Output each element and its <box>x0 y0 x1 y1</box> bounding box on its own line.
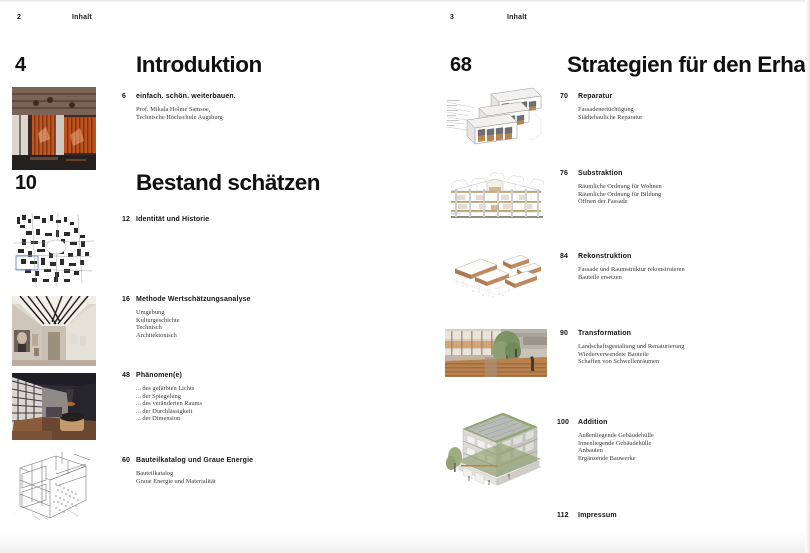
running-head-label-right: Inhalt <box>507 14 527 21</box>
toc-subitem: Räumliche Ordnung für Wohnen <box>578 183 662 191</box>
toc-entry-number: 48 <box>122 372 130 379</box>
toc-entry-subitems: Außenliegende Gebäudehülle Innenliegende… <box>578 432 654 462</box>
toc-entry-number: 12 <box>122 216 130 223</box>
toc-subitem: Ergänzende Bauwerke <box>578 455 654 463</box>
toc-subitem: Technisch <box>136 324 180 332</box>
toc-entry-number: 60 <box>122 457 130 464</box>
thumbnail-courtyard-tree-photo <box>445 329 547 377</box>
toc-subitem: Umgebung <box>136 309 180 317</box>
toc-subitem: Prof. Mikala Holme Samsoe, <box>136 106 223 114</box>
chapter-number-bestand-schaetzen: 10 <box>15 172 36 195</box>
toc-subitem: Landschaftsgestaltung und Renaturierung <box>578 343 684 351</box>
toc-subitem: Technische Hochschule Augsburg <box>136 114 223 122</box>
toc-entry-subitems: Räumliche Ordnung für Wohnen Räumliche O… <box>578 183 662 206</box>
toc-entry-number: 6 <box>122 93 126 100</box>
toc-entry-subitems: Umgebung Kulturgeschichte Technisch Arch… <box>136 309 180 339</box>
toc-entry-title: Substraktion <box>578 170 623 177</box>
thumbnail-corridor-herringbone-ceiling-photo <box>12 296 96 366</box>
toc-entry-subitems: Prof. Mikala Holme Samsoe, Technische Ho… <box>136 106 223 121</box>
thumbnail-dark-wood-interior-photo <box>12 373 96 440</box>
toc-subitem: Öffnen der Fassade <box>578 198 662 206</box>
toc-entry-number: 90 <box>560 330 568 337</box>
svg-text:.....: ..... <box>14 513 17 515</box>
toc-subitem: Schaffen von Schwellenräumen <box>578 358 684 366</box>
thumbnail-facade-exploded-axonometric <box>445 86 547 146</box>
toc-subitem: Anbauten <box>578 447 654 455</box>
chapter-title-bestand-schaetzen: Bestand schätzen <box>136 170 320 196</box>
toc-subitem: Wiederverwendete Bauteile <box>578 351 684 359</box>
svg-text:.....: ..... <box>68 513 71 515</box>
chapter-title-strategien: Strategien für den Erhalt <box>567 52 810 78</box>
chapter-number-introduktion: 4 <box>15 54 26 77</box>
toc-entry-title: einfach. schön. weiterbauen. <box>136 93 236 100</box>
toc-subitem: Architektonisch <box>136 332 180 340</box>
toc-subitem: Fassadenertüchtigung <box>578 106 642 114</box>
toc-entry-title: Identität und Historie <box>136 216 209 223</box>
thumbnail-interior-orange-curtains-photo <box>12 87 96 170</box>
thumbnail-urban-figure-ground-map <box>12 211 96 289</box>
toc-entry-title: Transformation <box>578 330 631 337</box>
chapter-number-strategien: 68 <box>450 54 471 77</box>
toc-subitem: Städtebauliche Reparatur <box>578 114 642 122</box>
book-spread: 2 Inhalt 4 Introduktion 6 einfach. schön… <box>0 0 810 553</box>
toc-subitem: Fassade und Raumstruktur rekonstruieren <box>578 266 685 274</box>
toc-entry-subitems: Bauteilkatalog Graue Energie und Materia… <box>136 470 216 485</box>
toc-subitem: ... des veränderten Raums <box>136 400 202 408</box>
thumbnail-site-plan-axonometric <box>445 243 547 305</box>
thumbnail-building-section-drawing <box>445 165 547 220</box>
chapter-title-introduktion: Introduktion <box>136 52 262 78</box>
toc-entry-subitems: Landschaftsgestaltung und Renaturierung … <box>578 343 684 366</box>
thumbnail-building-volume-axonometric <box>445 405 547 495</box>
toc-subitem: ... der Spiegelung <box>136 393 202 401</box>
toc-subitem: Bauteilkatalog <box>136 470 216 478</box>
toc-entry-title: Methode Wertschätzungsanalyse <box>136 296 251 303</box>
toc-entry-number: 16 <box>122 296 130 303</box>
running-head-page-number-left: 2 <box>17 14 21 21</box>
toc-subitem: ... der Dimension <box>136 415 202 423</box>
toc-subitem: ... des gefärbten Lichts <box>136 385 202 393</box>
right-page: 3 Inhalt 68 Strategien für den Erhalt 70… <box>405 0 810 553</box>
toc-entry-number: 84 <box>560 253 568 260</box>
toc-entry-number: 70 <box>560 93 568 100</box>
toc-entry-subitems: Fassade und Raumstruktur rekonstruieren … <box>578 266 685 281</box>
running-head-label-left: Inhalt <box>72 14 92 21</box>
toc-entry-title: Reparatur <box>578 93 612 100</box>
toc-subitem: Graue Energie und Materialität <box>136 478 216 486</box>
toc-entry-subitems: ... des gefärbten Lichts ... der Spiegel… <box>136 385 202 423</box>
toc-entry-subitems: Fassadenertüchtigung Städtebauliche Repa… <box>578 106 642 121</box>
toc-subitem: Innenliegende Gebäudehülle <box>578 440 654 448</box>
left-page: 2 Inhalt 4 Introduktion 6 einfach. schön… <box>0 0 405 553</box>
toc-entry-title: Rekonstruktion <box>578 253 631 260</box>
toc-entry-number: 100 <box>557 419 569 426</box>
toc-entry-title: Bauteilkatalog und Graue Energie <box>136 457 253 464</box>
toc-subitem: Bauteile ersetzen <box>578 274 685 282</box>
toc-entry-title: Addition <box>578 419 608 426</box>
toc-entry-number: 112 <box>557 512 569 519</box>
toc-entry-number: 76 <box>560 170 568 177</box>
toc-entry-title: Phänomen(e) <box>136 372 182 379</box>
toc-entry-title: Impressum <box>578 512 617 519</box>
toc-subitem: Räumliche Ordnung für Bildung <box>578 191 662 199</box>
toc-subitem: Außenliegende Gebäudehülle <box>578 432 654 440</box>
running-head-page-number-right: 3 <box>450 14 454 21</box>
thumbnail-construction-detail-axonometric: .......... ..... <box>12 450 96 522</box>
toc-subitem: Kulturgeschichte <box>136 317 180 325</box>
toc-subitem: ... der Durchlässigkeit <box>136 408 202 416</box>
